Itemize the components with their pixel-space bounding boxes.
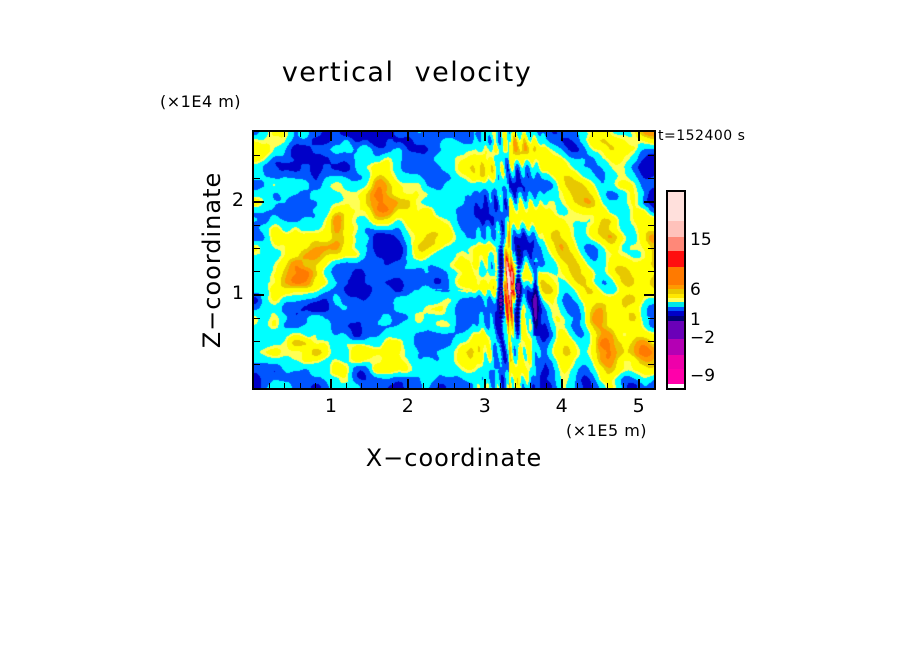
colorbar-label-2: 1: [690, 310, 701, 330]
colorbar-band-13: [668, 321, 684, 339]
x-minor-tick-top: [592, 132, 593, 137]
plot-area: [252, 130, 656, 390]
x-minor-tick-top: [546, 132, 547, 137]
x-minor-tick-top: [530, 132, 531, 137]
x-ticklabel-5: 5: [619, 395, 659, 417]
colorbar-label-0: 15: [690, 230, 712, 250]
x-minor-tick: [469, 383, 470, 388]
y-minor-tick-right: [648, 341, 654, 342]
y-axis-unit-label: (×1E4 m): [160, 92, 241, 111]
x-minor-tick-top: [300, 132, 301, 137]
y-minor-tick-right: [648, 178, 654, 179]
colorbar-band-4: [668, 267, 684, 285]
x-minor-tick-top: [454, 132, 455, 137]
x-major-tick-4: [638, 379, 640, 388]
x-minor-tick: [454, 383, 455, 388]
x-ticklabel-1: 1: [311, 395, 351, 417]
x-ticklabel-4: 4: [542, 395, 582, 417]
x-minor-tick-top: [346, 132, 347, 137]
y-ticklabel-2: 2: [216, 189, 244, 211]
x-minor-tick: [392, 383, 393, 388]
x-major-tick-3: [561, 379, 563, 388]
y-minor-tick: [254, 318, 260, 319]
y-minor-tick: [254, 364, 260, 365]
x-minor-tick: [423, 383, 424, 388]
y-minor-tick-right: [648, 155, 654, 156]
colorbar-label-4: −9: [690, 366, 715, 386]
y-minor-tick: [254, 225, 260, 226]
x-ticklabel-2: 2: [388, 395, 428, 417]
x-minor-tick-top: [377, 132, 378, 137]
y-major-tick-right-1: [644, 201, 654, 203]
x-minor-tick: [530, 383, 531, 388]
x-major-tick-2: [484, 379, 486, 388]
y-minor-tick-right: [648, 364, 654, 365]
y-minor-tick-right: [648, 225, 654, 226]
x-minor-tick: [623, 383, 624, 388]
y-major-tick-1: [254, 201, 264, 203]
y-minor-tick: [254, 271, 260, 272]
x-minor-tick-top: [361, 132, 362, 137]
x-axis-unit-label: (×1E5 m): [566, 421, 647, 440]
y-minor-tick: [254, 341, 260, 342]
x-minor-tick-top: [577, 132, 578, 137]
time-annotation: t=152400 s: [658, 128, 745, 144]
colorbar-band-1: [668, 221, 684, 237]
x-minor-tick-top: [515, 132, 516, 137]
colorbar-band-14: [668, 339, 684, 355]
x-minor-tick: [546, 383, 547, 388]
x-major-tick-top-2: [484, 132, 486, 141]
x-major-tick-1: [407, 379, 409, 388]
x-minor-tick: [300, 383, 301, 388]
x-minor-tick: [377, 383, 378, 388]
x-minor-tick: [577, 383, 578, 388]
x-major-tick-0: [330, 379, 332, 388]
x-minor-tick: [500, 383, 501, 388]
plot-title: vertical velocity: [0, 57, 859, 88]
x-minor-tick-top: [500, 132, 501, 137]
x-minor-tick: [607, 383, 608, 388]
x-minor-tick-top: [623, 132, 624, 137]
x-minor-tick: [346, 383, 347, 388]
y-minor-tick-right: [648, 271, 654, 272]
colorbar: [666, 190, 686, 390]
colorbar-band-2: [668, 237, 684, 251]
x-minor-tick-top: [392, 132, 393, 137]
colorbar-label-1: 6: [690, 280, 701, 300]
x-minor-tick: [592, 383, 593, 388]
x-ticklabel-3: 3: [465, 395, 505, 417]
x-minor-tick: [515, 383, 516, 388]
y-minor-tick: [254, 178, 260, 179]
x-minor-tick-top: [269, 132, 270, 137]
y-major-tick-right-0: [644, 294, 654, 296]
x-minor-tick-top: [423, 132, 424, 137]
x-minor-tick-top: [469, 132, 470, 137]
x-major-tick-top-3: [561, 132, 563, 141]
y-minor-tick-right: [648, 248, 654, 249]
x-minor-tick: [438, 383, 439, 388]
colorbar-band-0: [668, 192, 684, 221]
x-axis-title: X−coordinate: [252, 444, 656, 472]
y-major-tick-0: [254, 294, 264, 296]
x-minor-tick-top: [284, 132, 285, 137]
x-major-tick-top-4: [638, 132, 640, 141]
y-minor-tick-right: [648, 318, 654, 319]
figure-root: vertical velocity (×1E4 m) t=152400 s Z−…: [0, 0, 904, 654]
y-ticklabel-1: 1: [216, 282, 244, 304]
velocity-field-heatmap: [254, 132, 654, 388]
x-minor-tick: [284, 383, 285, 388]
colorbar-band-16: [668, 369, 684, 384]
x-minor-tick-top: [607, 132, 608, 137]
x-minor-tick-top: [438, 132, 439, 137]
y-axis-title-wrapper: Z−coordinate: [196, 130, 228, 390]
x-minor-tick-top: [315, 132, 316, 137]
colorbar-band-3: [668, 251, 684, 268]
x-minor-tick: [361, 383, 362, 388]
x-major-tick-top-1: [407, 132, 409, 141]
y-minor-tick: [254, 248, 260, 249]
x-minor-tick: [315, 383, 316, 388]
x-minor-tick: [269, 383, 270, 388]
y-minor-tick: [254, 155, 260, 156]
colorbar-label-3: −2: [690, 328, 715, 348]
colorbar-band-15: [668, 355, 684, 370]
x-major-tick-top-0: [330, 132, 332, 141]
